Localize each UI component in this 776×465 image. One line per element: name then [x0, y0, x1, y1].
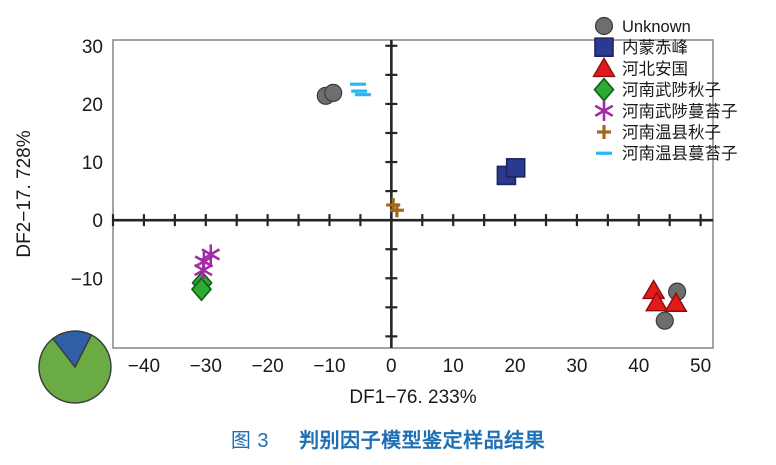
x-tick-label: −30 — [190, 356, 222, 377]
legend-label: 河南温县蔓苔子 — [622, 144, 738, 163]
caption-text: 判别因子模型鉴定样品结果 — [299, 430, 545, 452]
figure-caption: 图 3 判别因子模型鉴定样品结果 — [0, 424, 776, 453]
legend-item-5[interactable]: 河南温县秋子 — [597, 123, 721, 142]
legend-label: 河北安国 — [622, 59, 688, 78]
y-tick-label: −10 — [71, 269, 103, 290]
x-axis-title: DF1−76. 233% — [349, 387, 476, 408]
inset-pie-chart — [39, 331, 111, 403]
data-point-asterisk — [595, 101, 612, 121]
legend-item-6[interactable]: 河南温县蔓苔子 — [596, 144, 738, 163]
data-point-square — [507, 159, 525, 177]
legend-label: Unknown — [622, 18, 691, 36]
legend-item-1[interactable]: 内蒙赤峰 — [595, 38, 688, 57]
figure-container: −40−30−20−1001020304050−100102030DF1−76.… — [0, 0, 776, 465]
legend-item-0[interactable]: Unknown — [596, 18, 691, 37]
series-4 — [195, 244, 220, 280]
legend-label: 河南武陟秋子 — [622, 81, 721, 100]
data-point-triangle — [594, 58, 615, 76]
y-axis-title: DF2−17. 728% — [14, 130, 35, 257]
x-tick-label: 0 — [386, 356, 397, 377]
legend-item-2[interactable]: 河北安国 — [594, 58, 689, 78]
series-1 — [497, 159, 524, 185]
x-tick-label: 30 — [566, 356, 587, 377]
x-tick-label: 40 — [628, 356, 649, 377]
legend-item-4[interactable]: 河南武陟蔓苔子 — [595, 101, 737, 121]
x-tick-label: −40 — [128, 356, 160, 377]
y-tick-label: 20 — [82, 95, 103, 116]
y-tick-label: 0 — [92, 211, 103, 232]
data-point-circle — [596, 18, 613, 35]
data-point-diamond — [595, 79, 614, 101]
x-tick-label: −20 — [252, 356, 284, 377]
data-point-circle — [656, 312, 673, 329]
data-point-plus — [597, 125, 611, 139]
series-6 — [350, 84, 371, 94]
series-0 — [317, 84, 685, 329]
series-3 — [192, 272, 212, 300]
x-tick-label: 10 — [443, 356, 464, 377]
x-tick-label: 20 — [504, 356, 525, 377]
scatter-plot: −40−30−20−1001020304050−100102030DF1−76.… — [0, 0, 776, 465]
y-tick-label: 10 — [82, 153, 103, 174]
data-point-triangle — [643, 280, 664, 298]
caption-number: 图 3 — [231, 430, 269, 452]
legend-label: 河南武陟蔓苔子 — [622, 102, 738, 121]
x-tick-label: 50 — [690, 356, 711, 377]
legend-item-3[interactable]: 河南武陟秋子 — [595, 79, 722, 101]
legend-label: 河南温县秋子 — [622, 123, 721, 142]
series-5 — [386, 198, 404, 217]
data-point-circle — [325, 84, 342, 101]
legend-label: 内蒙赤峰 — [622, 38, 688, 57]
y-tick-label: 30 — [82, 37, 103, 58]
data-point-square — [595, 38, 613, 56]
x-tick-label: −10 — [313, 356, 345, 377]
